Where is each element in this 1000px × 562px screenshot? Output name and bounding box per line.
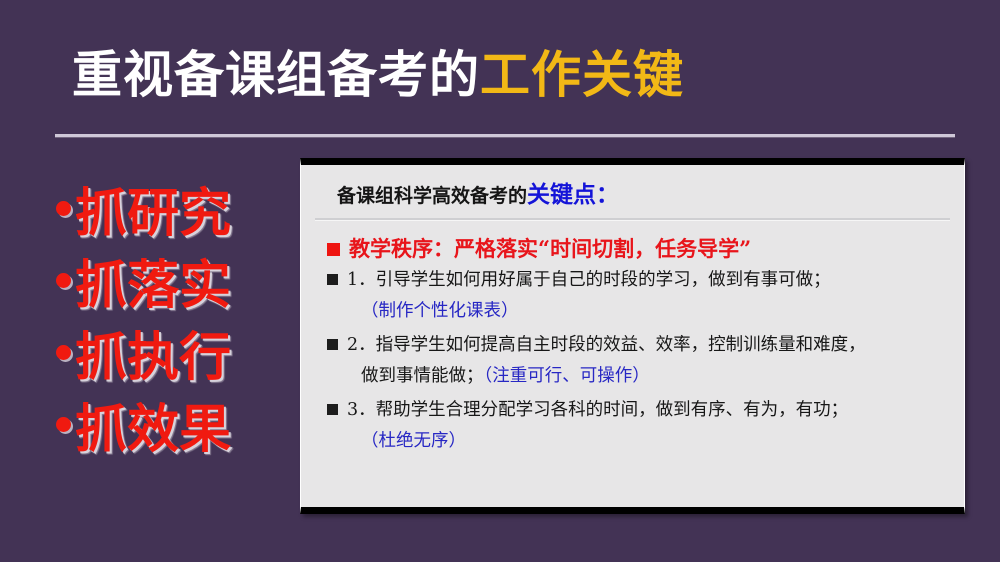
panel-header-accent: 关键点： bbox=[527, 182, 619, 208]
headline-text: 教学秩序：严格落实“时间切割，任务导学” bbox=[349, 236, 751, 262]
list-item-text: 1．引导学生如何用好属于自己的时段的学习，做到有事可做； bbox=[347, 267, 831, 294]
page-title-accent: 工作关键 bbox=[480, 46, 684, 104]
list-item: 抓效果 bbox=[56, 388, 286, 460]
list-item-label: 抓落实 bbox=[75, 243, 231, 318]
headline-row: 教学秩序：严格落实“时间切割，任务导学” bbox=[327, 236, 946, 262]
bullet-dot-icon bbox=[56, 273, 71, 288]
list-item-note: （制作个性化课表） bbox=[361, 298, 946, 324]
bullet-dot-icon bbox=[56, 417, 71, 432]
list-item-label: 抓执行 bbox=[75, 315, 231, 390]
list-item: 3．帮助学生合理分配学习各科的时间，做到有序、有为，有功； （杜绝无序） bbox=[327, 397, 946, 454]
title-divider bbox=[55, 134, 955, 137]
list-item-note: （杜绝无序） bbox=[361, 428, 946, 454]
list-item: 2．指导学生如何提高自主时段的效益、效率，控制训练量和难度， 做到事情能做；（注… bbox=[327, 332, 946, 389]
content-panel: 备课组科学高效备考的关键点： 教学秩序：严格落实“时间切割，任务导学” 1．引导… bbox=[300, 158, 965, 514]
list-item-note: （注重可行、可操作） bbox=[484, 366, 650, 386]
list-item: 抓落实 bbox=[56, 244, 286, 316]
red-square-bullet-icon bbox=[327, 243, 340, 256]
bullet-dot-icon bbox=[56, 201, 71, 216]
list-item: 抓执行 bbox=[56, 316, 286, 388]
presentation-slide: 重视备课组备考的工作关键 抓研究 抓落实 抓执行 抓效果 备课组科学高效备考的关… bbox=[0, 0, 1000, 562]
square-bullet-icon bbox=[327, 404, 338, 415]
list-item-label: 抓效果 bbox=[75, 387, 231, 462]
list-item: 1．引导学生如何用好属于自己的时段的学习，做到有事可做； （制作个性化课表） bbox=[327, 267, 946, 324]
page-title-main: 重视备课组备考的 bbox=[72, 46, 480, 104]
list-item: 抓研究 bbox=[56, 172, 286, 244]
page-title: 重视备课组备考的工作关键 bbox=[72, 48, 684, 103]
panel-header: 备课组科学高效备考的关键点： bbox=[301, 165, 964, 208]
list-item-line2: 做到事情能做； bbox=[361, 366, 484, 386]
list-item-text-line2: 做到事情能做；（注重可行、可操作） bbox=[361, 363, 946, 389]
square-bullet-icon bbox=[327, 339, 338, 350]
panel-body: 教学秩序：严格落实“时间切割，任务导学” 1．引导学生如何用好属于自己的时段的学… bbox=[301, 220, 964, 454]
panel-header-main: 备课组科学高效备考的 bbox=[337, 185, 527, 207]
key-actions-list: 抓研究 抓落实 抓执行 抓效果 bbox=[56, 172, 286, 460]
bullet-dot-icon bbox=[56, 345, 71, 360]
list-item-label: 抓研究 bbox=[75, 171, 231, 246]
square-bullet-icon bbox=[327, 274, 338, 285]
list-item-text: 3．帮助学生合理分配学习各科的时间，做到有序、有为，有功； bbox=[347, 397, 848, 424]
list-item-text: 2．指导学生如何提高自主时段的效益、效率，控制训练量和难度， bbox=[347, 332, 866, 359]
